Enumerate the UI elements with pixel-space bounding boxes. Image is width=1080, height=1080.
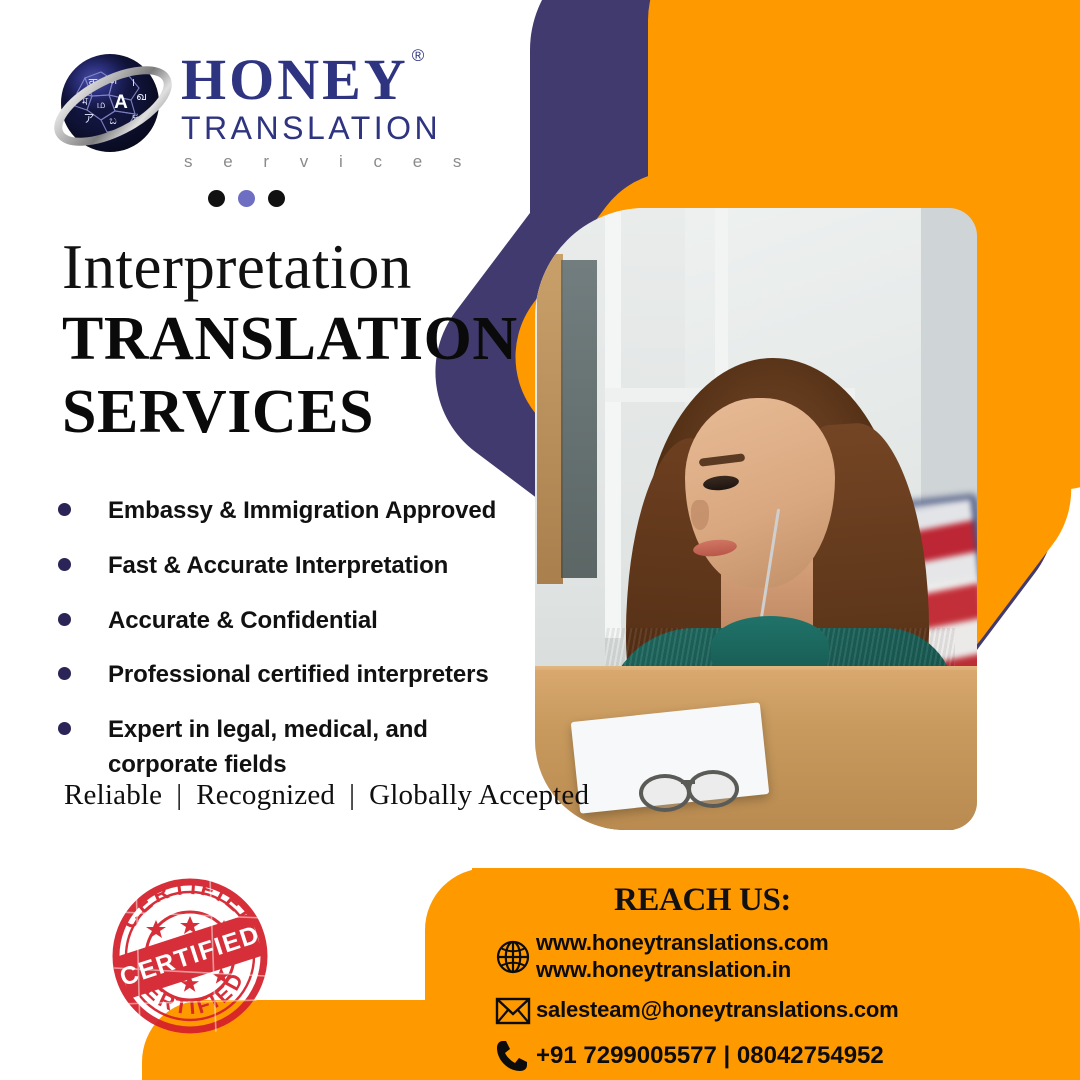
contact-phone[interactable]: +91 7299005577 | 08042754952: [536, 1041, 884, 1070]
bullet-dot-icon: [58, 613, 71, 626]
contact-row-email[interactable]: salesteam@honeytranslations.com: [490, 996, 899, 1026]
headline-block: Interpretation TRANSLATION SERVICES: [62, 234, 518, 446]
tagline-separator-1: |: [176, 779, 182, 811]
list-item-label: Accurate & Confidential: [108, 604, 378, 639]
headline-bold-line-1: TRANSLATION: [62, 306, 518, 373]
contact-website-2[interactable]: www.honeytranslation.in: [536, 957, 828, 984]
decorative-dots: [208, 190, 285, 207]
list-item: Professional certified interpreters: [58, 658, 528, 693]
bullet-dot-icon: [58, 722, 71, 735]
globe-languages-icon: क अ । ম ம ഖ ア ಬ ಳ A: [55, 48, 167, 160]
list-item-label: Embassy & Immigration Approved: [108, 494, 496, 529]
hero-photo: [535, 208, 977, 830]
tagline-part-2: Recognized: [196, 779, 335, 811]
contact-row-phone[interactable]: +91 7299005577 | 08042754952: [490, 1038, 899, 1074]
bullet-dot-icon: [58, 558, 71, 571]
poster-canvas: क अ । ম ம ഖ ア ಬ ಳ A: [0, 0, 1080, 1080]
tagline-part-1: Reliable: [64, 779, 162, 811]
dot-3-icon: [268, 190, 285, 207]
bullet-dot-icon: [58, 503, 71, 516]
contact-website-lines[interactable]: www.honeytranslations.com www.honeytrans…: [536, 930, 828, 984]
list-item-label: Expert in legal, medical, and corporate …: [108, 713, 458, 783]
list-item: Expert in legal, medical, and corporate …: [58, 713, 528, 783]
logo-brand-text: HONEY: [181, 47, 409, 112]
contact-panel: REACH US: www.honeytran: [142, 868, 1080, 1080]
phone-icon: [490, 1038, 536, 1074]
registered-mark-icon: ®: [412, 48, 428, 64]
tagline: Reliable|Recognized|Globally Accepted: [60, 779, 593, 812]
tagline-separator-2: |: [349, 779, 355, 811]
dot-2-icon: [238, 190, 255, 207]
logo-line-translation: TRANSLATION: [181, 110, 474, 147]
globe-icon: [490, 939, 536, 975]
headline-script-line: Interpretation: [62, 234, 518, 300]
bullet-dot-icon: [58, 667, 71, 680]
contact-website-1[interactable]: www.honeytranslations.com: [536, 930, 828, 957]
envelope-icon: [490, 996, 536, 1026]
list-item-label: Professional certified interpreters: [108, 658, 489, 693]
list-item: Embassy & Immigration Approved: [58, 494, 528, 529]
list-item: Fast & Accurate Interpretation: [58, 549, 528, 584]
headline-bold-line-2: SERVICES: [62, 379, 518, 446]
feature-list: Embassy & Immigration Approved Fast & Ac…: [58, 494, 528, 783]
contact-row-website[interactable]: www.honeytranslations.com www.honeytrans…: [490, 930, 899, 984]
contact-title: REACH US:: [614, 882, 791, 919]
certified-stamp: CERTIFIED CERTIFIED CERTIFIED: [106, 872, 274, 1040]
list-item: Accurate & Confidential: [58, 604, 528, 639]
tagline-part-3: Globally Accepted: [369, 779, 589, 811]
contact-email[interactable]: salesteam@honeytranslations.com: [536, 997, 899, 1024]
brand-logo: क अ । ম ம ഖ ア ಬ ಳ A: [55, 48, 474, 172]
list-item-label: Fast & Accurate Interpretation: [108, 549, 448, 584]
logo-line-services: s e r v i c e s: [184, 152, 474, 172]
dot-1-icon: [208, 190, 225, 207]
